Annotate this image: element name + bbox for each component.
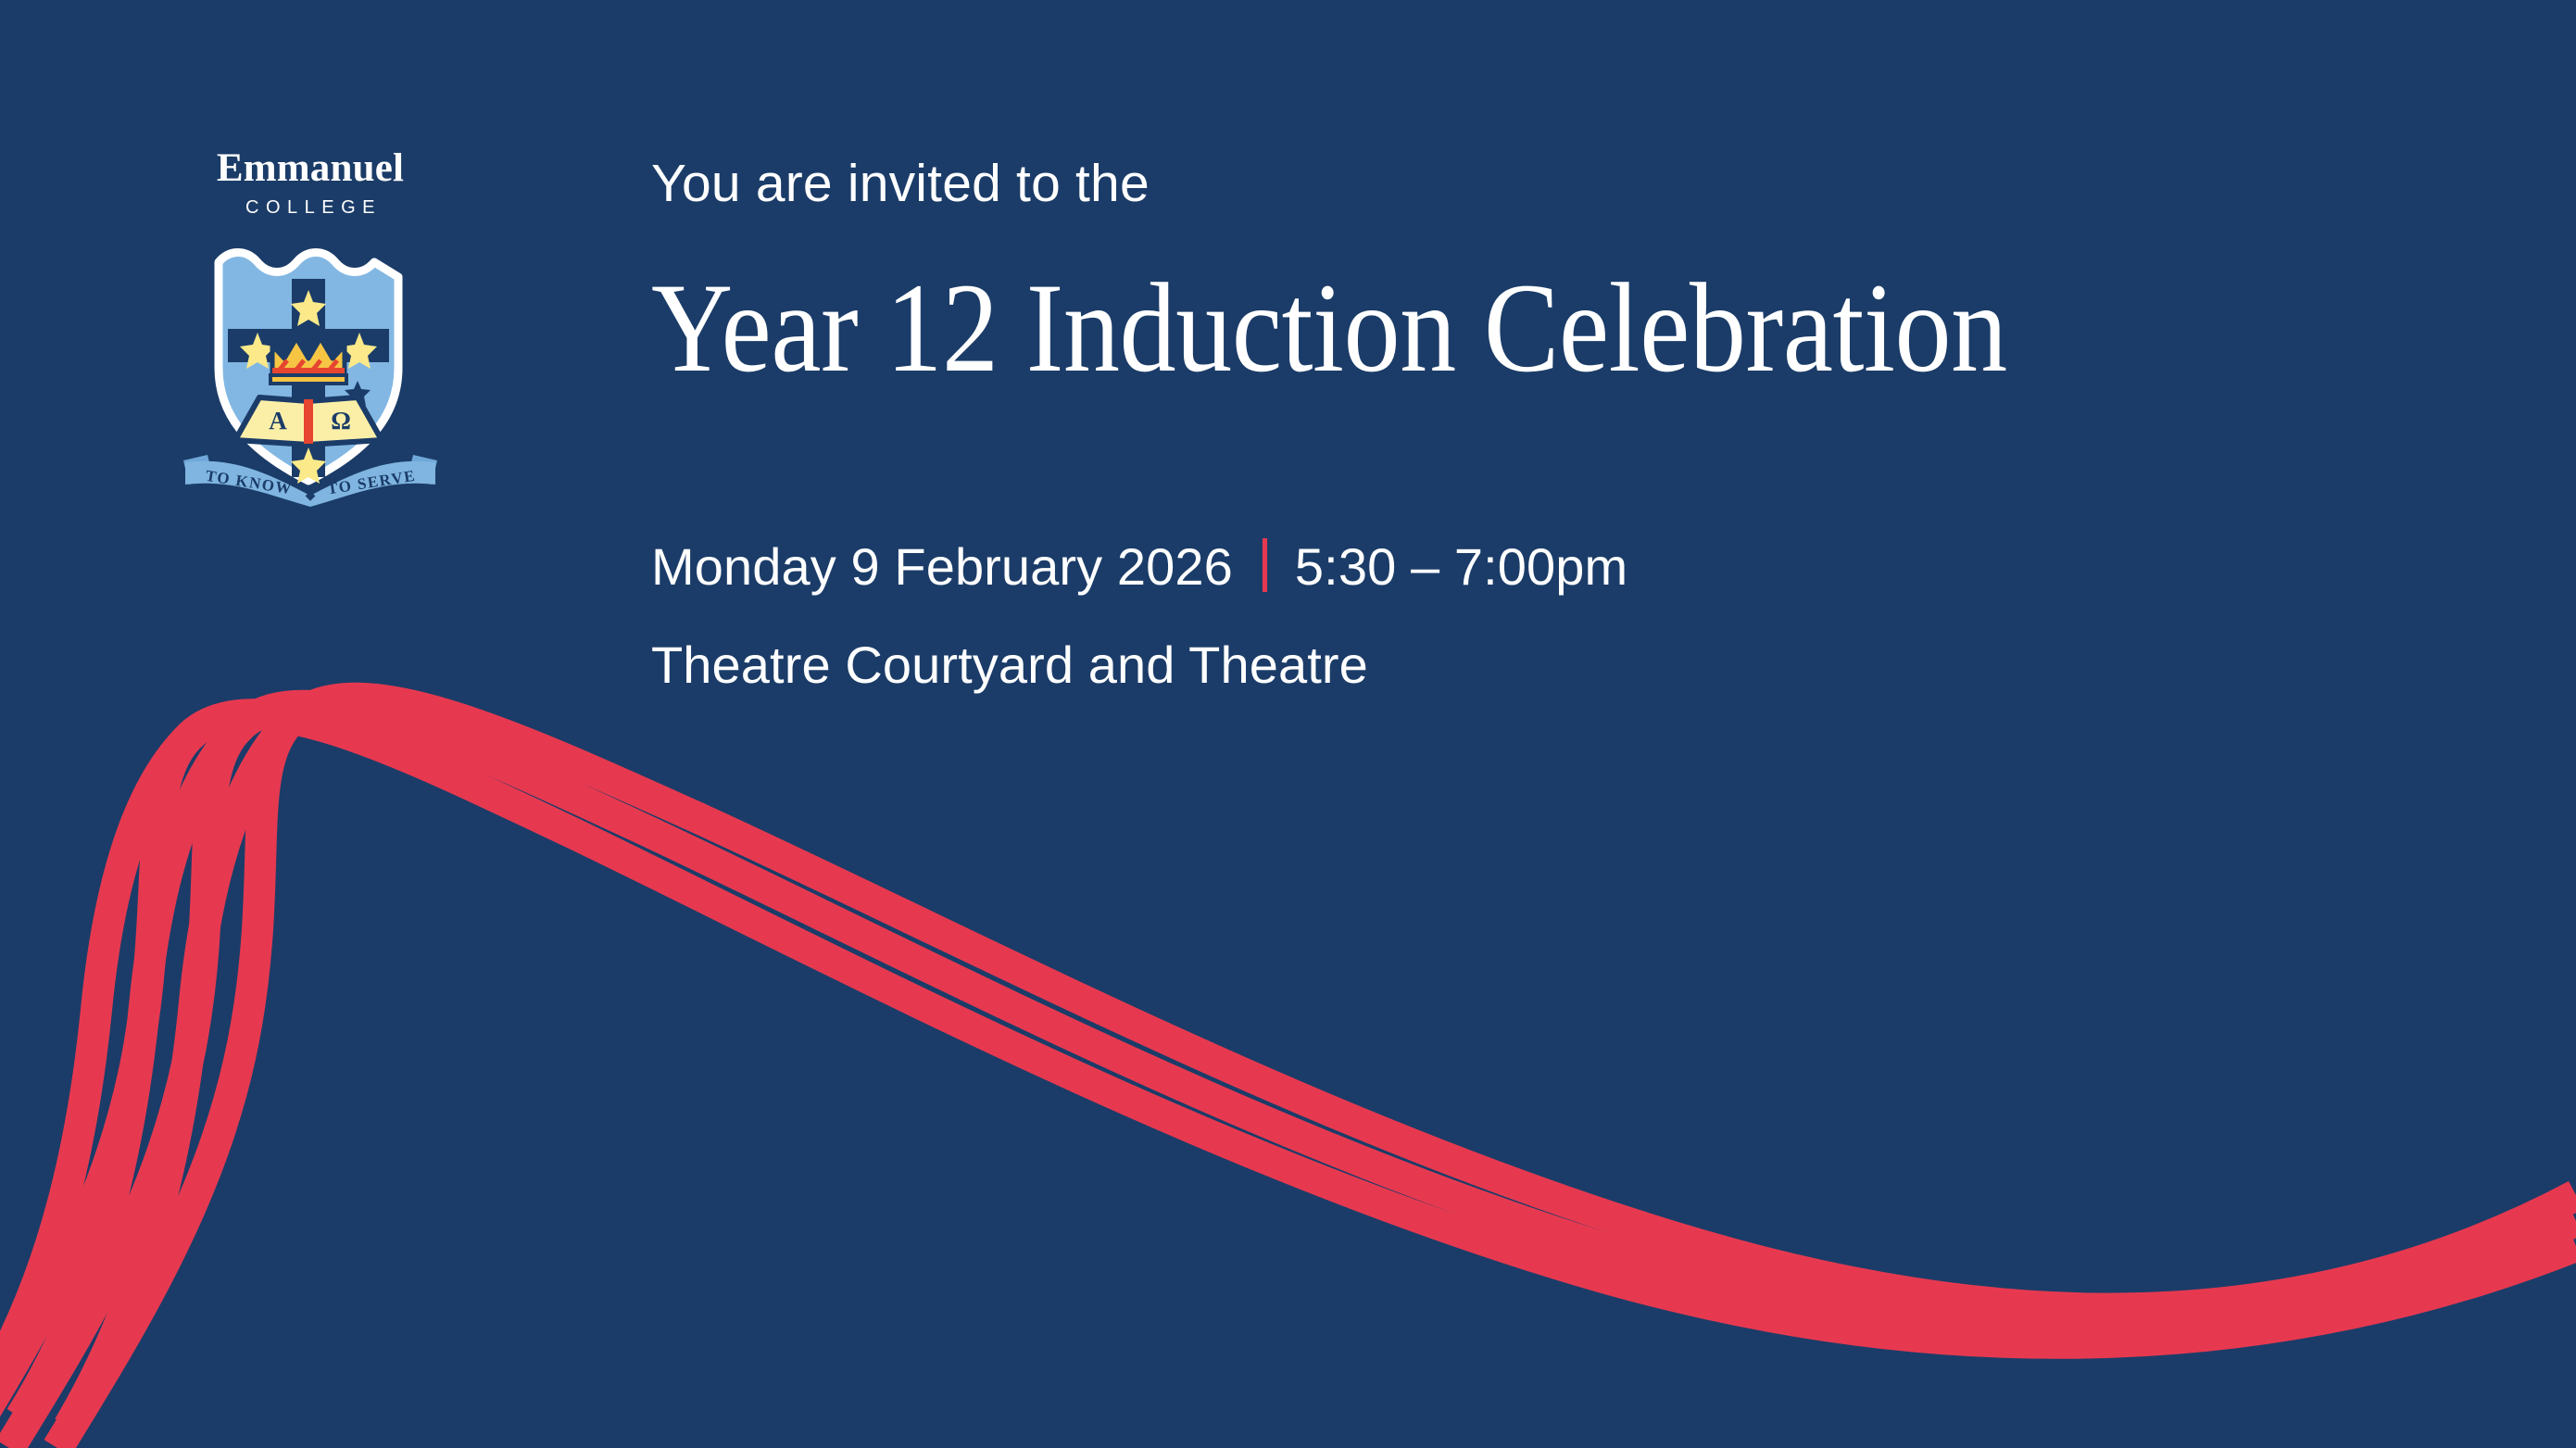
venue-line: Theatre Courtyard and Theatre [651, 638, 2183, 692]
event-title: Year 12 Induction Celebration [651, 264, 2007, 392]
event-time: 5:30 – 7:00pm [1295, 540, 1627, 594]
crest-shield-icon: Α Ω TO KNOW ◆ TO SERVE [176, 229, 445, 507]
event-date: Monday 9 February 2026 [651, 540, 1233, 594]
date-time-line: Monday 9 February 2026 5:30 – 7:00pm [651, 531, 2183, 594]
invitation-text-block: You are invited to the Year 12 Induction… [651, 157, 2183, 692]
college-subtitle: COLLEGE [176, 198, 445, 217]
college-logo: Emmanuel COLLEGE [176, 148, 445, 511]
open-book-icon: Α Ω [235, 397, 382, 445]
motto-separator-icon: ◆ [306, 489, 316, 503]
college-wordmark: Emmanuel COLLEGE [176, 148, 445, 217]
college-name: Emmanuel [176, 148, 445, 188]
college-crest: Α Ω TO KNOW ◆ TO SERVE [176, 229, 445, 511]
invitation-poster: Emmanuel COLLEGE [0, 0, 2576, 1448]
omega-glyph: Ω [331, 407, 351, 434]
alpha-glyph: Α [269, 407, 287, 434]
invitation-eyebrow: You are invited to the [651, 157, 2183, 210]
event-details: Monday 9 February 2026 5:30 – 7:00pm The… [651, 531, 2183, 692]
detail-separator-icon [1263, 538, 1267, 592]
event-venue: Theatre Courtyard and Theatre [651, 638, 1368, 692]
